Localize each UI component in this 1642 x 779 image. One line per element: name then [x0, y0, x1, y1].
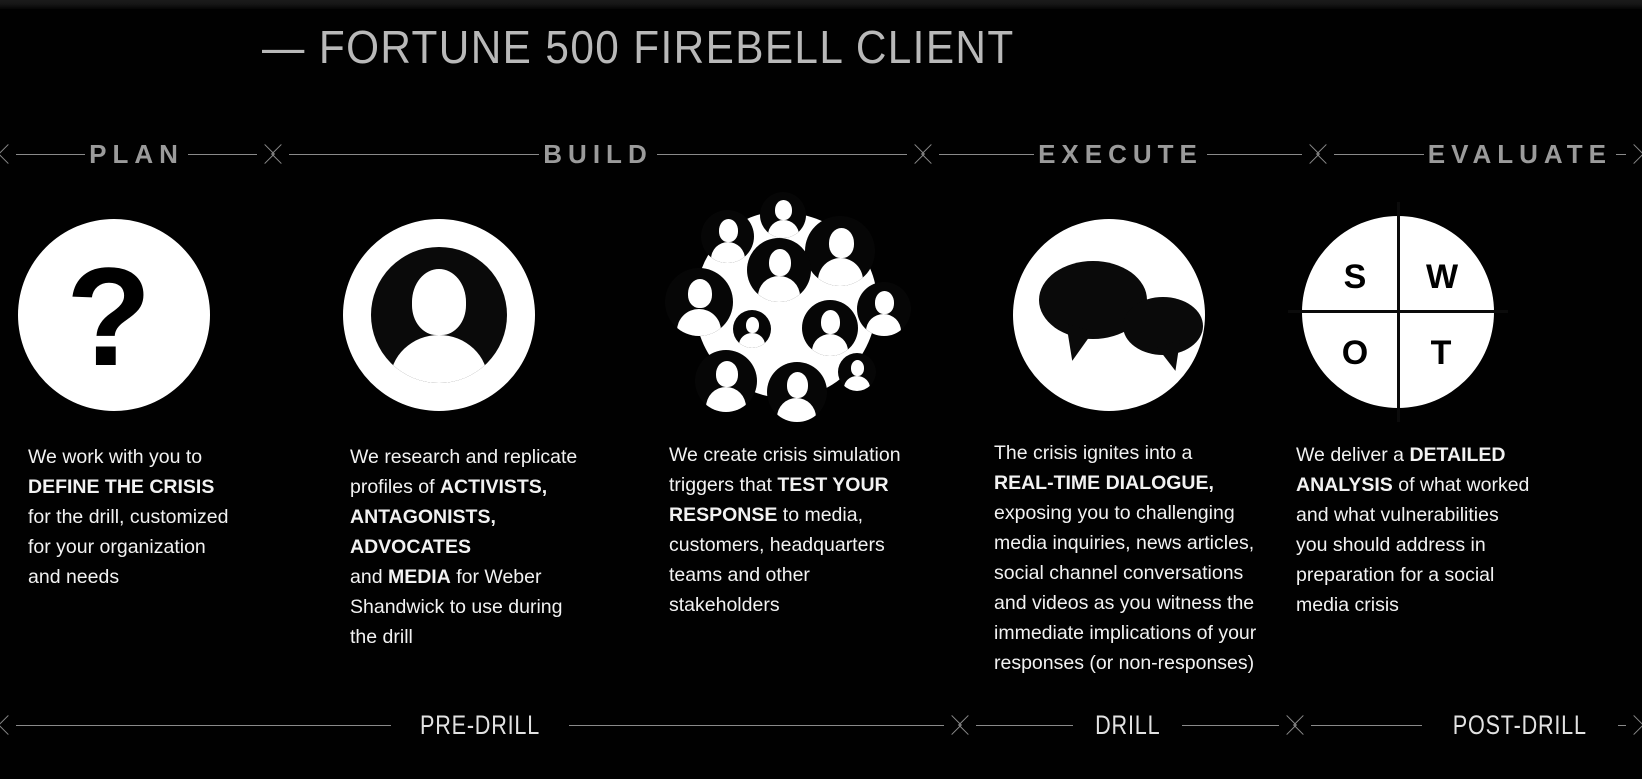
infographic-canvas: — FORTUNE 500 FIREBELL CLIENT PLAN BUILD… — [0, 0, 1642, 779]
rule-line — [1311, 725, 1422, 726]
swot-letter-t: T — [1426, 336, 1456, 370]
rule-line — [289, 154, 539, 155]
phase-segment-build[interactable]: BUILD — [273, 135, 923, 173]
column-body-build: We research and replicate profiles of AC… — [350, 442, 640, 652]
arrow-right-icon — [1626, 144, 1642, 164]
avatar-node — [695, 350, 757, 412]
people-cluster-icon — [657, 190, 909, 422]
page-title: — FORTUNE 500 FIREBELL CLIENT — [262, 20, 1015, 74]
arrow-left-icon — [1295, 715, 1311, 735]
phase-segment-execute[interactable]: EXECUTE — [923, 135, 1318, 173]
columns-container: ? We work with you to DEFINE THE CRISIS … — [0, 186, 1642, 686]
column-evaluate: S W O T We deliver a DETAILED ANALYSIS o… — [1310, 186, 1642, 686]
person-profile-circle-icon — [343, 219, 535, 411]
plain-text: exposing you to challenging media inquir… — [994, 502, 1256, 674]
question-mark-glyph: ? — [66, 247, 152, 387]
arrow-left-icon — [960, 715, 976, 735]
phase-segment-evaluate[interactable]: EVALUATE — [1318, 135, 1642, 173]
rule-line — [939, 154, 1034, 155]
top-edge-strip — [0, 0, 1642, 9]
icon-area: ? — [0, 186, 330, 416]
avatar-node — [857, 282, 911, 336]
rule-line — [1207, 154, 1302, 155]
rule-line — [976, 725, 1073, 726]
rule-line — [1334, 154, 1424, 155]
avatar-node — [760, 192, 806, 238]
emphasis-text: DEFINE THE CRISIS — [28, 476, 214, 498]
arrow-right-icon — [1626, 715, 1642, 735]
avatar-node — [802, 300, 858, 356]
drill-segment-pre-drill[interactable]: PRE-DRILL — [0, 706, 960, 744]
column-simulation: We create crisis simulation triggers tha… — [655, 186, 980, 686]
column-build: We research and replicate profiles of AC… — [330, 186, 655, 686]
icon-area — [980, 186, 1310, 416]
avatar-node — [747, 238, 811, 302]
column-body-simulation: We create crisis simulation triggers tha… — [669, 440, 969, 620]
phase-label-plan: PLAN — [85, 139, 188, 170]
avatar-node — [701, 210, 754, 263]
emphasis-text: REAL-TIME DIALOGUE, — [994, 472, 1214, 494]
plain-text: We deliver a — [1296, 444, 1409, 466]
plain-text: for the drill, customized for your organ… — [28, 506, 229, 588]
arrow-left-icon — [0, 715, 16, 735]
column-body-plan: We work with you to DEFINE THE CRISIS fo… — [28, 442, 308, 592]
person-head-shape — [412, 269, 466, 335]
swot-letter-s: S — [1340, 260, 1370, 294]
icon-area — [330, 186, 655, 416]
avatar-node — [805, 216, 875, 286]
icon-area: S W O T — [1310, 186, 1642, 416]
phase-label-execute: EXECUTE — [1034, 139, 1207, 170]
plain-text: The crisis ignites into a — [994, 442, 1192, 464]
ring-inner-disc — [371, 247, 507, 383]
avatar-node — [838, 353, 876, 391]
plain-text: We work with you to — [28, 446, 202, 468]
drill-segment-post-drill[interactable]: POST-DRILL — [1295, 706, 1642, 744]
arrow-left-icon — [1318, 144, 1334, 164]
emphasis-text: MEDIA — [388, 566, 451, 588]
rule-line — [1182, 725, 1279, 726]
column-execute: The crisis ignites into a REAL-TIME DIAL… — [980, 186, 1310, 686]
arrow-left-icon — [0, 144, 16, 164]
drill-segment-drill[interactable]: DRILL — [960, 706, 1295, 744]
rule-line — [16, 154, 85, 155]
drill-label-post-drill: POST-DRILL — [1442, 710, 1598, 741]
question-mark-circle-icon: ? — [18, 219, 210, 411]
swot-letter-w: W — [1424, 260, 1460, 294]
avatar-node — [733, 310, 771, 348]
swot-horizontal-divider — [1288, 310, 1508, 313]
rule-line — [657, 154, 907, 155]
rule-line — [569, 725, 944, 726]
person-shoulders-shape — [390, 335, 488, 383]
arrow-left-icon — [273, 144, 289, 164]
column-body-execute: The crisis ignites into a REAL-TIME DIAL… — [994, 438, 1304, 678]
avatar-node — [665, 268, 733, 336]
phase-timeline: PLAN BUILD EXECUTE EVALUATE — [0, 135, 1642, 173]
arrow-left-icon — [923, 144, 939, 164]
phase-label-build: BUILD — [539, 139, 656, 170]
column-body-evaluate: We deliver a DETAILED ANALYSIS of what w… — [1296, 440, 1616, 620]
phase-segment-plan[interactable]: PLAN — [0, 135, 273, 173]
icon-area — [655, 186, 980, 416]
phase-label-evaluate: EVALUATE — [1424, 139, 1616, 170]
drill-timeline: PRE-DRILL DRILL POST-DRILL — [0, 705, 1642, 745]
avatar-node — [767, 362, 827, 422]
column-plan: ? We work with you to DEFINE THE CRISIS … — [0, 186, 330, 686]
rule-line — [188, 154, 257, 155]
plain-text: and — [350, 566, 388, 588]
speech-bubbles-circle-icon — [1013, 219, 1205, 411]
swot-quadrant-circle-icon: S W O T — [1302, 216, 1502, 416]
drill-label-pre-drill: PRE-DRILL — [409, 710, 551, 741]
rule-line — [16, 725, 391, 726]
drill-label-drill: DRILL — [1084, 710, 1172, 741]
swot-letter-o: O — [1340, 336, 1370, 370]
